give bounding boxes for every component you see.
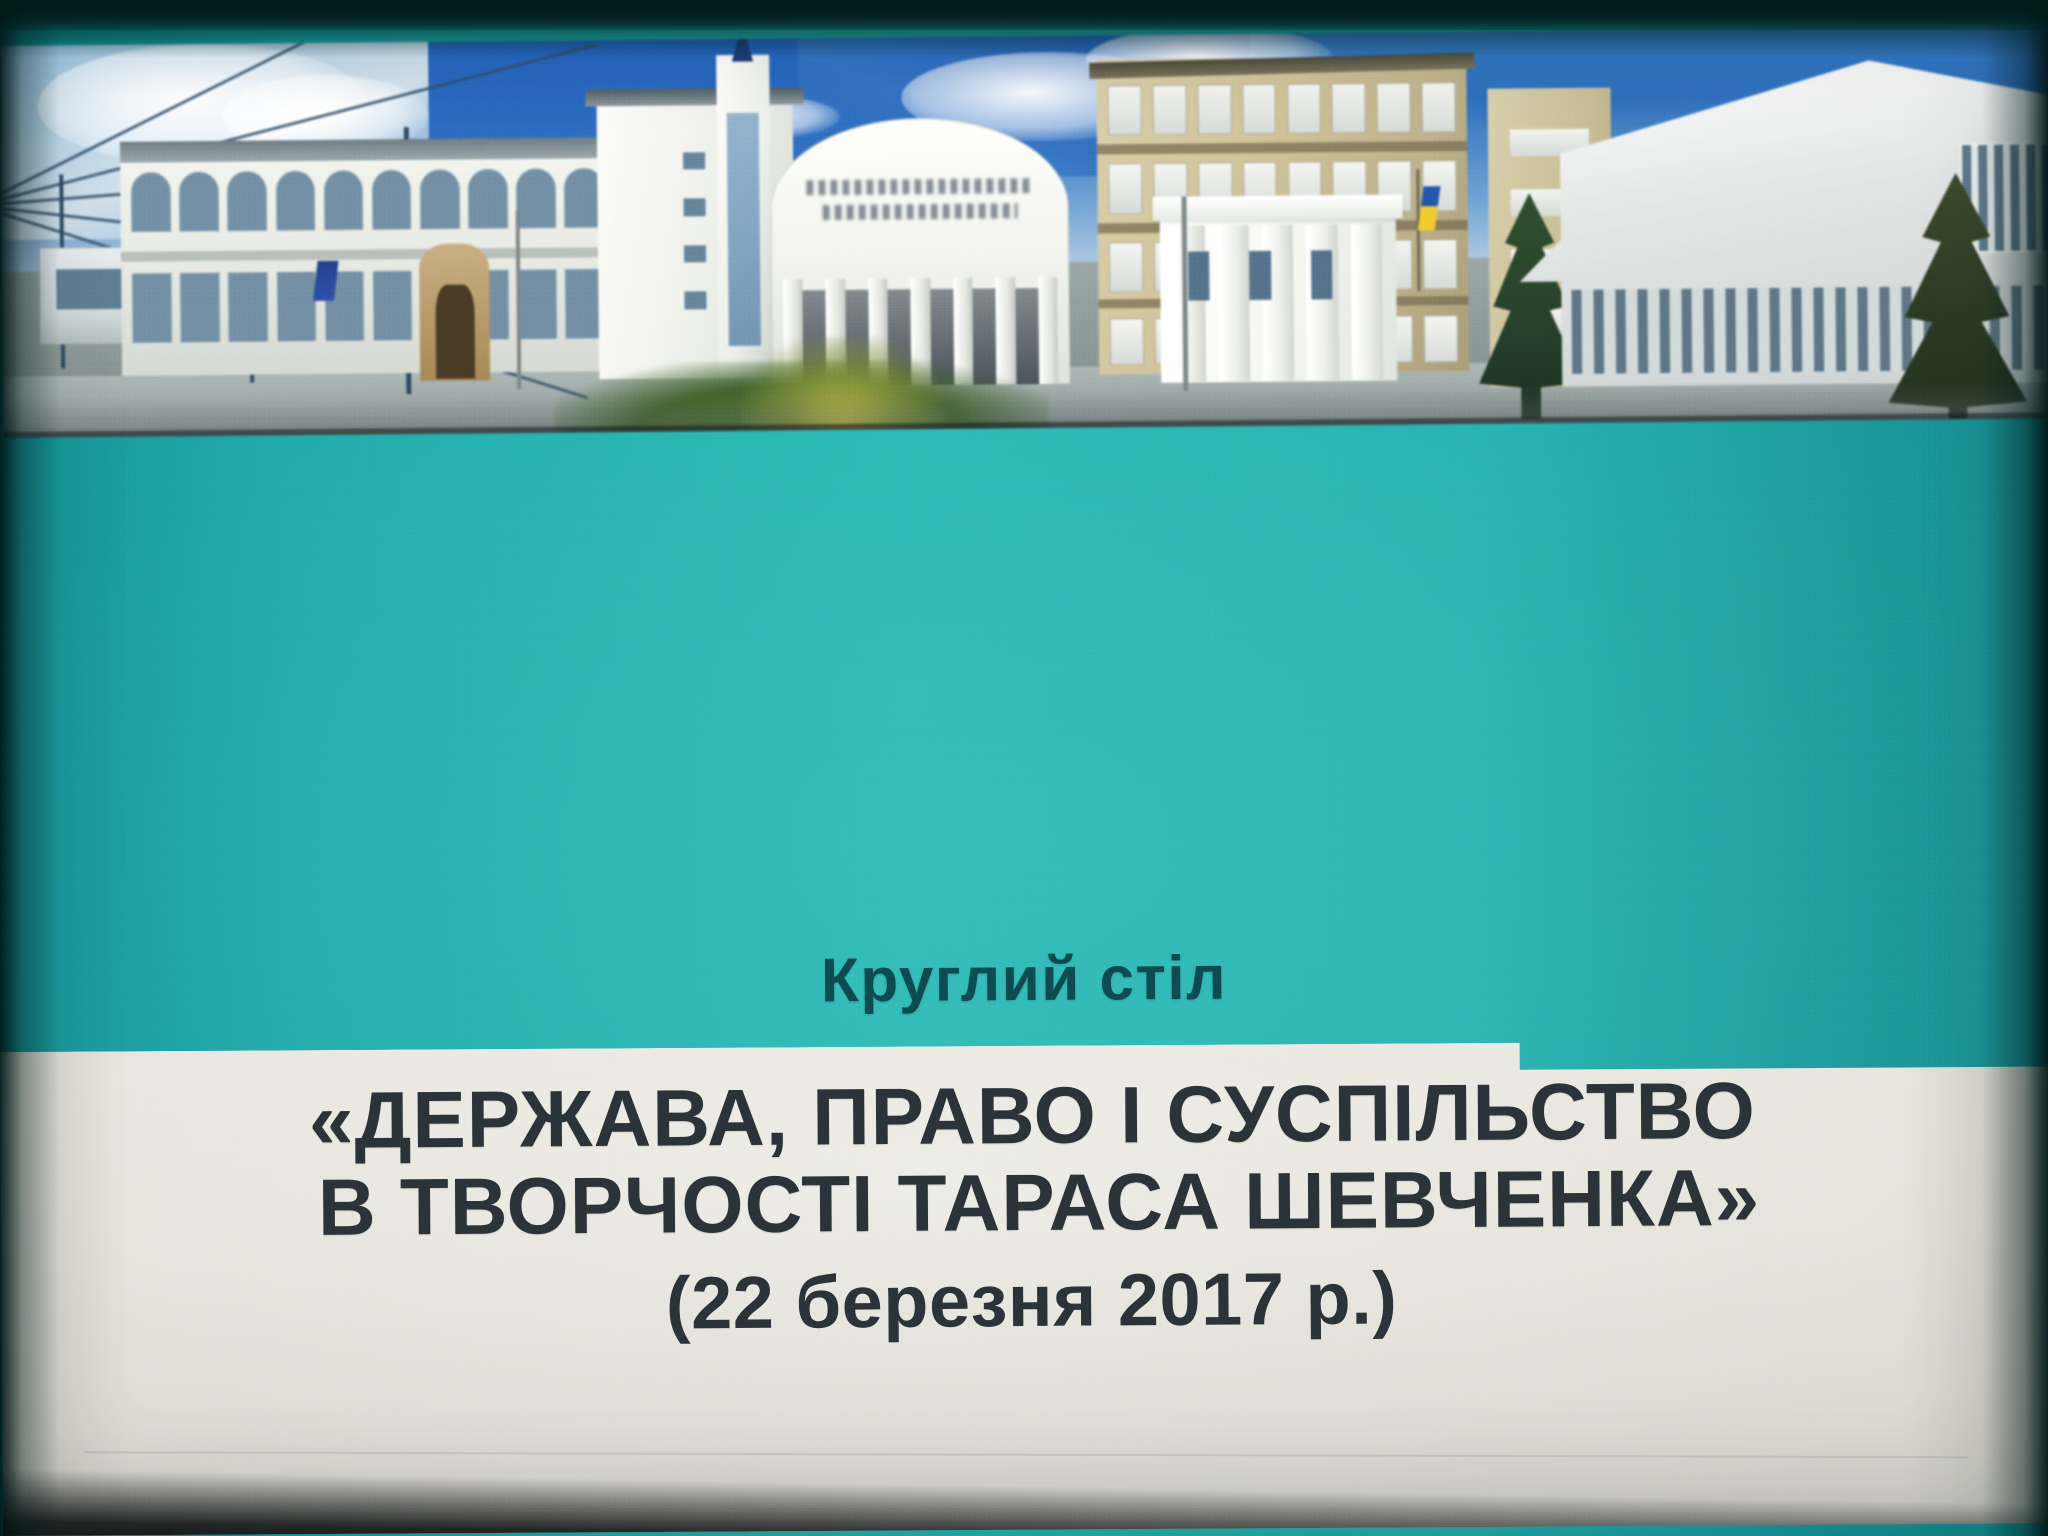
classical-building-left bbox=[120, 137, 616, 376]
title-line-2: В ТВОРЧОСТІ ТАРАСА ШЕВЧЕНКА» bbox=[0, 1152, 2048, 1253]
slide-title-block: «ДЕРЖАВА, ПРАВО І СУСПІЛЬСТВО В ТВОРЧОСТ… bbox=[0, 1065, 2048, 1351]
flag-icon-blue bbox=[313, 261, 338, 302]
white-portico bbox=[1159, 194, 1397, 382]
banner-photo-collage bbox=[0, 26, 2048, 438]
presentation-slide: Круглий стіл «ДЕРЖАВА, ПРАВО І СУСПІЛЬСТ… bbox=[0, 0, 2048, 1536]
clock-tower bbox=[716, 55, 773, 379]
building-entrance-portal bbox=[419, 243, 490, 381]
title-line-1: «ДЕРЖАВА, ПРАВО І СУСПІЛЬСТВО bbox=[0, 1065, 2048, 1166]
screen-top-edge bbox=[0, 0, 2048, 30]
event-date: (22 березня 2017 р.) bbox=[0, 1251, 2048, 1350]
slide-kicker: Круглий стіл bbox=[0, 937, 2048, 1022]
building-inscription bbox=[806, 178, 1033, 249]
